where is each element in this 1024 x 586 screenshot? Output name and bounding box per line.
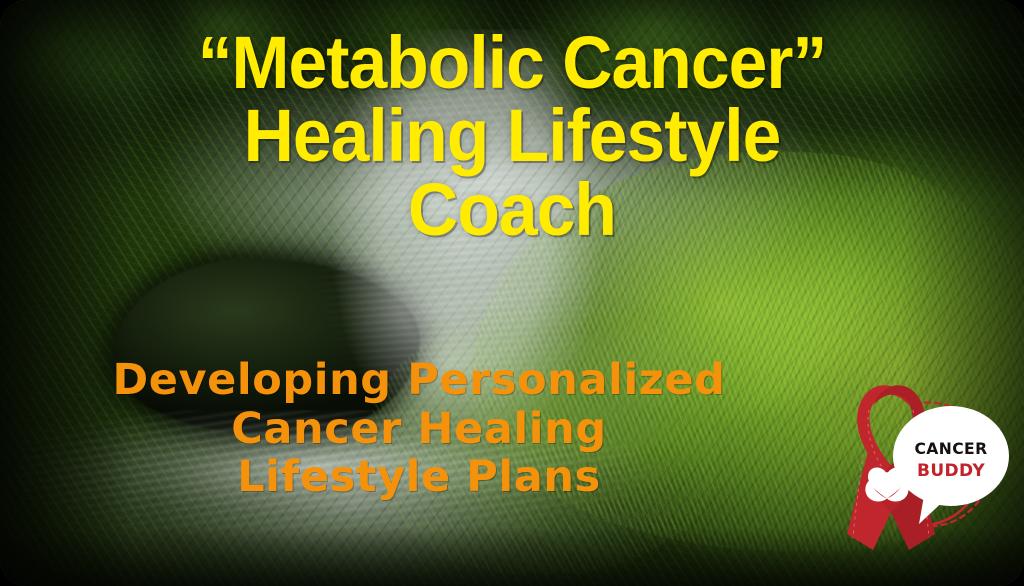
banner-content: “Metabolic Cancer” Healing Lifestyle Coa… <box>0 0 1024 586</box>
logo-brand-top: CANCER <box>914 440 987 458</box>
subheadline-text: Developing Personalized Cancer Healing L… <box>24 356 814 502</box>
headline-title: “Metabolic Cancer” Healing Lifestyle Coa… <box>31 26 994 246</box>
promo-banner: “Metabolic Cancer” Healing Lifestyle Coa… <box>0 0 1024 586</box>
logo-brand-bottom: BUDDY <box>917 461 985 481</box>
cancer-buddy-logo[interactable]: CANCER BUDDY <box>833 362 1019 550</box>
